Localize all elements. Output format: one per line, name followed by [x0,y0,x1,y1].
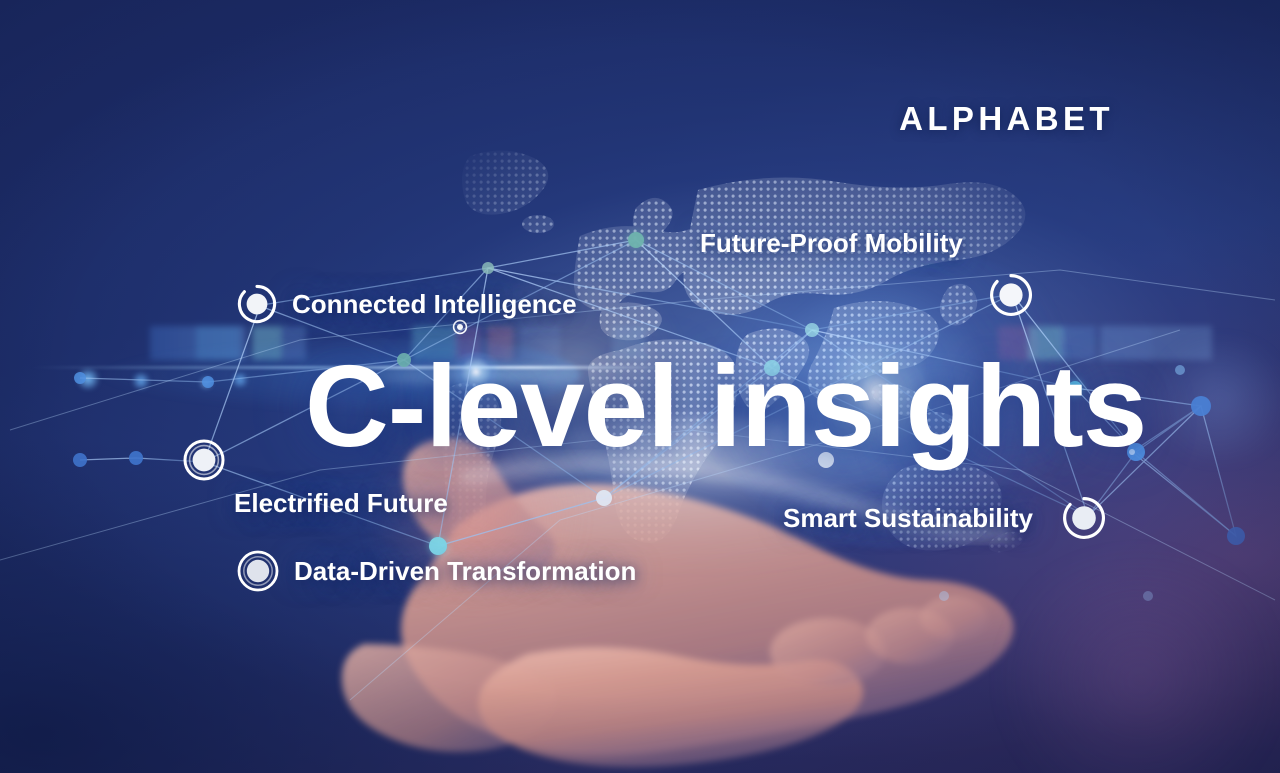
brand-logo: ALPHABET [899,100,1114,138]
ring-node-icon [236,283,278,325]
ring-node-icon [182,438,226,482]
feature-label: Data-Driven Transformation [294,556,636,587]
feature-label: Electrified Future [234,488,448,519]
feature-callout-future-proof-mobility[interactable]: Future-Proof Mobility [700,228,963,259]
feature-label: Connected Intelligence [292,289,577,320]
hero-banner: ALPHABET C-level insights Connected Inte… [0,0,1280,773]
ring-node-icon [988,272,1034,318]
feature-callout-electrified-future[interactable]: Electrified Future [182,438,448,519]
feature-label: Future-Proof Mobility [700,228,963,259]
feature-label: Smart Sustainability [783,503,1033,534]
ring-node-icon [236,549,280,593]
feature-callout-data-driven-transformation[interactable]: Data-Driven Transformation [236,549,636,593]
feature-callout-connected-intelligence[interactable]: Connected Intelligence [236,283,577,325]
feature-icon-future-proof-mobility[interactable] [988,272,1034,318]
feature-callout-smart-sustainability[interactable]: Smart Sustainability [783,495,1107,541]
ring-node-icon [1061,495,1107,541]
